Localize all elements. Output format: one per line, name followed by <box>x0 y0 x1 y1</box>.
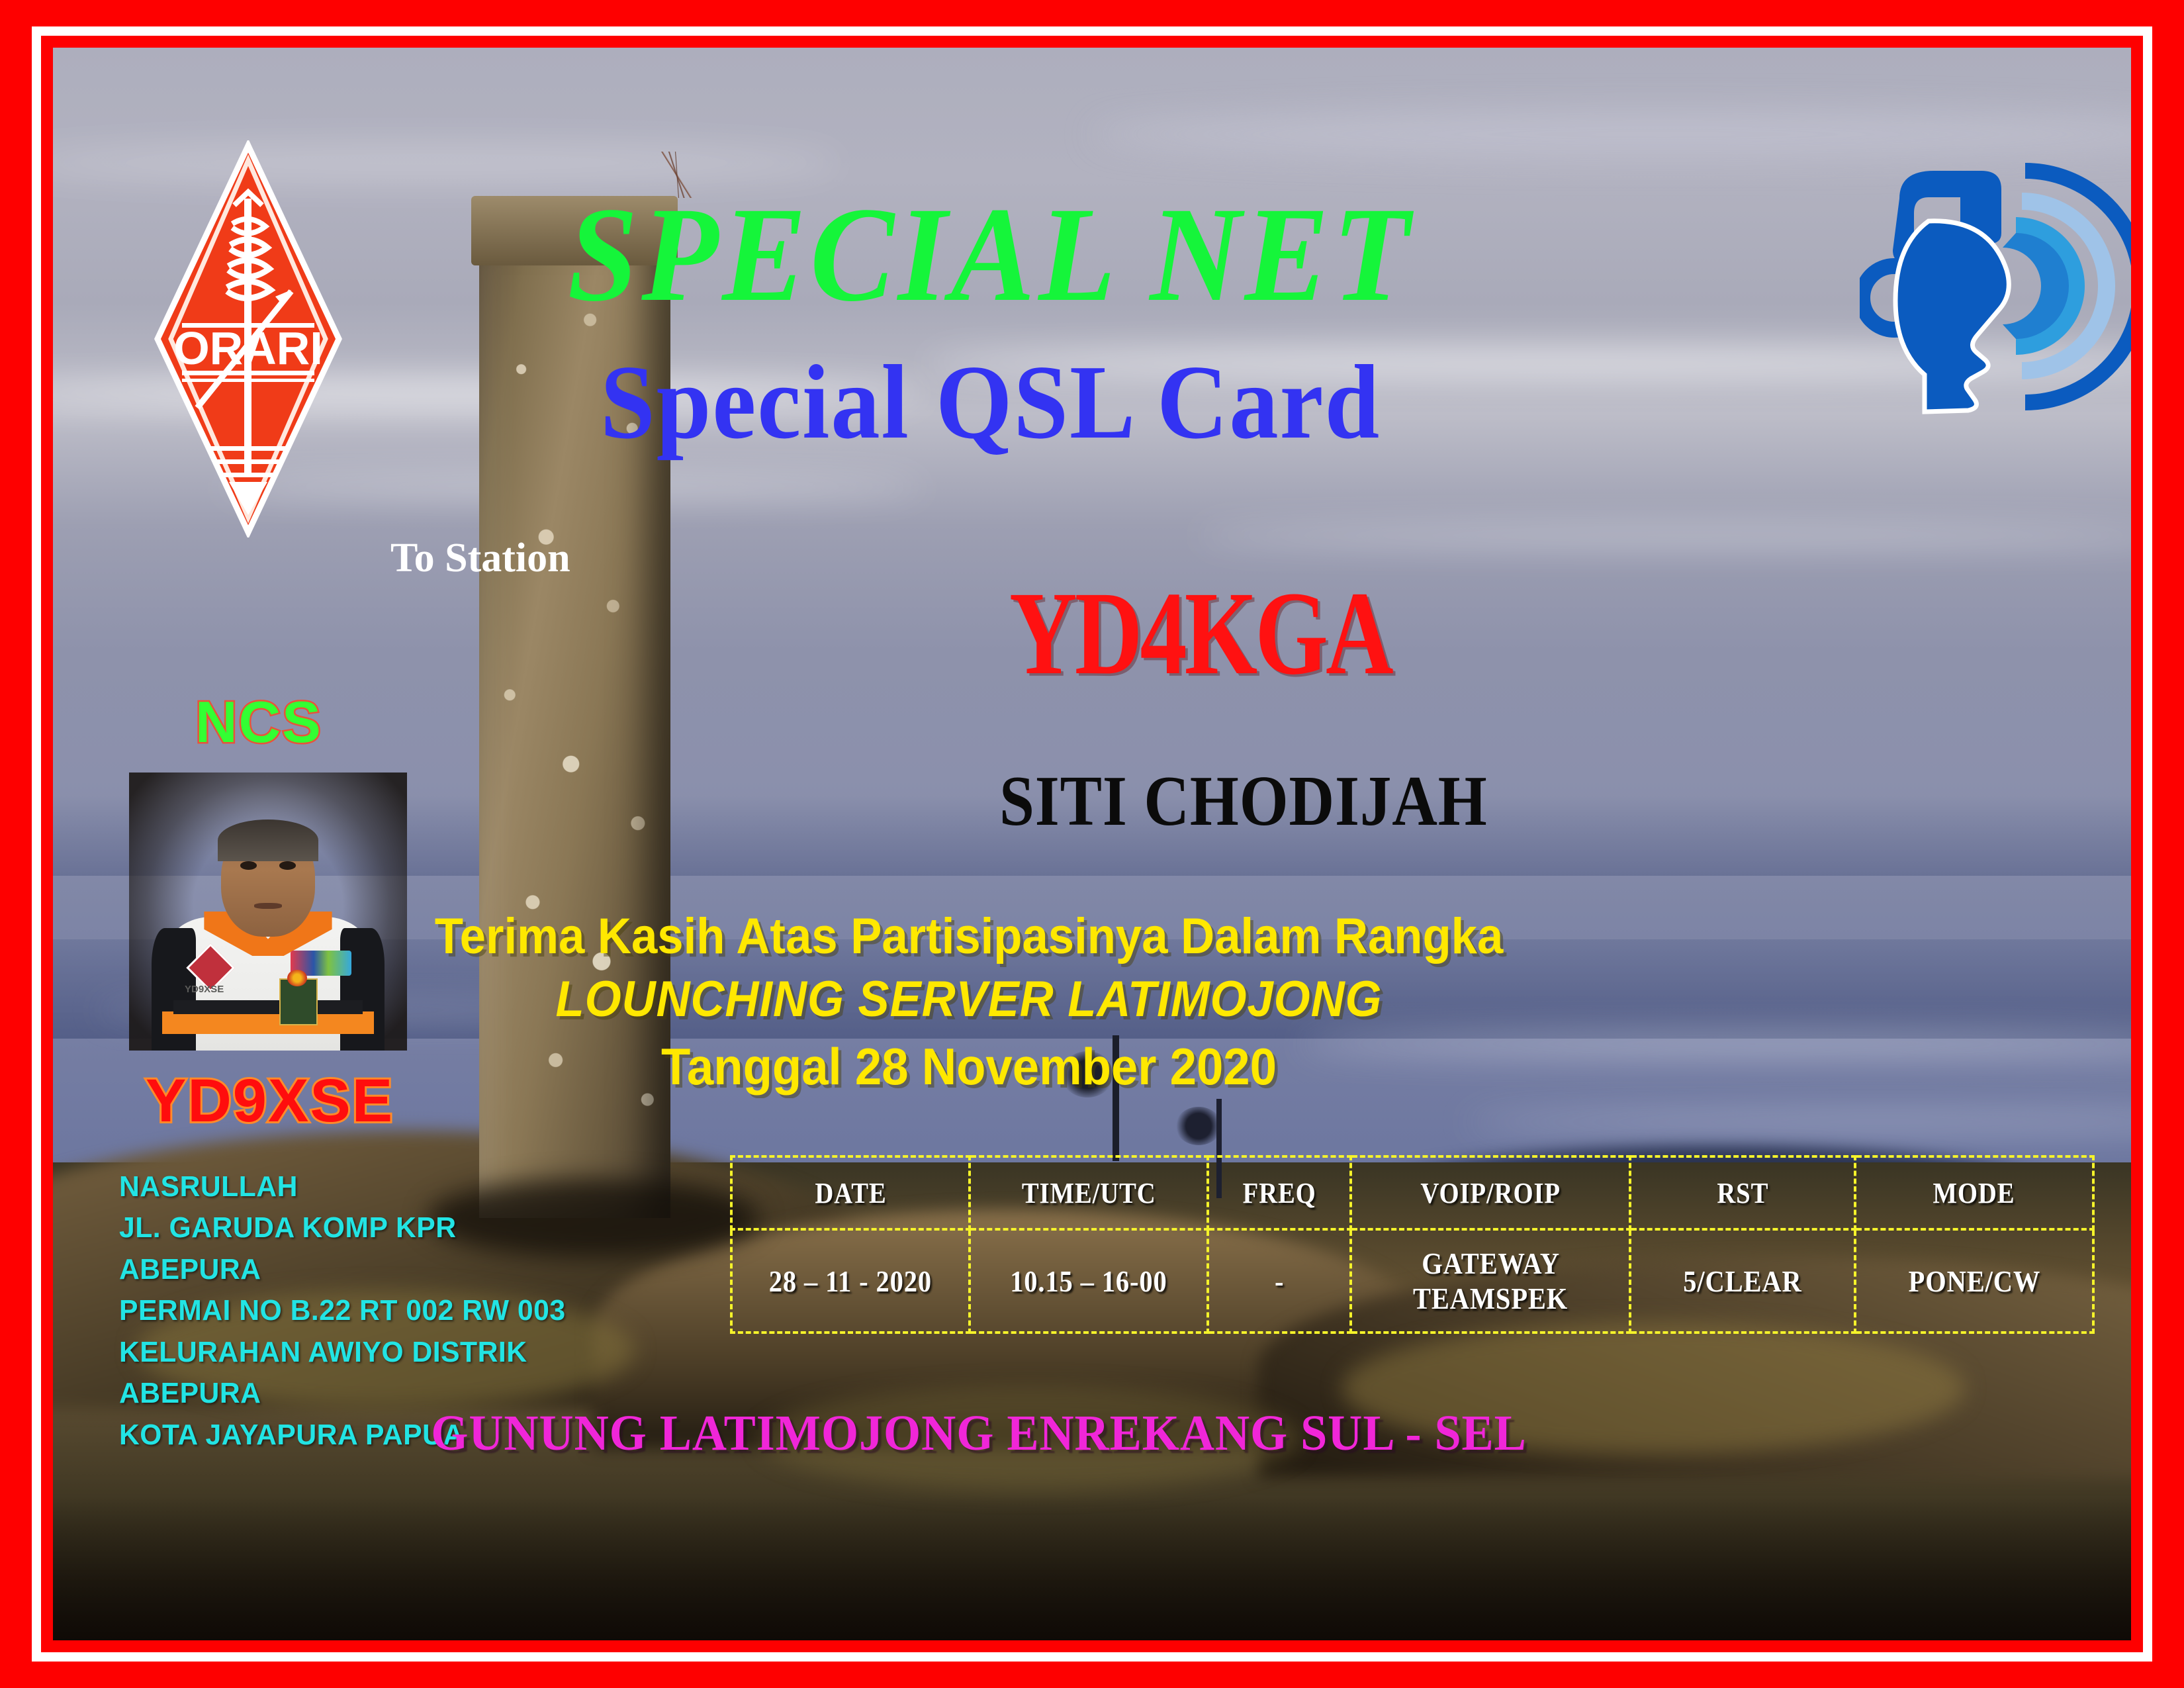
tree-silhouette <box>1175 1107 1222 1145</box>
location-label: GUNUNG LATIMOJONG ENREKANG SUL - SEL <box>105 1408 2079 1458</box>
hair <box>218 820 318 861</box>
address-line: PERMAI NO B.22 RT 002 RW 003 <box>119 1290 566 1331</box>
column-header-rst: RST <box>1630 1156 1855 1229</box>
page-subtitle: Special QSL Card <box>126 349 2058 455</box>
column-header-freq: FREQ <box>1208 1156 1351 1229</box>
to-station-callsign: YD4KGA <box>1009 574 1391 694</box>
cell-rst: 5/CLEAR <box>1630 1229 1855 1333</box>
footer-web-address: Address : amatir.latimojong.com <box>1320 1636 1953 1640</box>
column-header-date: DATE <box>731 1156 970 1229</box>
cell-time: 10.15 – 16-00 <box>970 1229 1208 1333</box>
mouth <box>254 903 282 908</box>
qso-log-table: DATE TIME/UTC FREQ VOIP/ROIP RST MODE 28… <box>730 1155 2095 1334</box>
footer-motto: "AMATIR RADIO ADALAH PROGRESIVE" <box>132 1640 1036 1640</box>
address-line: NASRULLAH <box>119 1166 566 1207</box>
foreground-shadow <box>53 1497 2131 1640</box>
eye-left <box>240 861 257 870</box>
to-station-label: To Station <box>390 538 570 579</box>
event-date-line: Tanggal 28 November 2020 <box>126 1041 2058 1092</box>
page-title: SPECIAL NET <box>126 187 2058 322</box>
column-header-mode: MODE <box>1855 1156 2093 1229</box>
table-row: 28 – 11 - 2020 10.15 – 16-00 - GATEWAY T… <box>731 1229 2093 1333</box>
address-line: KELURAHAN AWIYO DISTRIK <box>119 1332 566 1373</box>
cell-date: 28 – 11 - 2020 <box>731 1229 970 1333</box>
card-background-photo: ORARI YD9XSE <box>53 48 2131 1640</box>
column-header-voip: VOIP/ROIP <box>1351 1156 1630 1229</box>
column-header-time: TIME/UTC <box>970 1156 1208 1229</box>
cell-freq: - <box>1208 1229 1351 1333</box>
to-station-operator-name: SITI CHODIJAH <box>999 766 1488 837</box>
cell-voip: GATEWAY TEAMSPEK <box>1351 1229 1630 1333</box>
event-name-line: LOUNCHING SERVER LATIMOJONG <box>126 974 2058 1025</box>
cell-mode: PONE/CW <box>1855 1229 2093 1333</box>
address-line: ABEPURA <box>119 1249 566 1290</box>
event-thanks-line: Terima Kasih Atas Partisipasinya Dalam R… <box>126 912 2058 962</box>
table-header-row: DATE TIME/UTC FREQ VOIP/ROIP RST MODE <box>731 1156 2093 1229</box>
cloud-streak <box>1196 526 2131 545</box>
qsl-card: ORARI YD9XSE <box>0 0 2184 1688</box>
address-line: JL. GARUDA KOMP KPR <box>119 1207 566 1248</box>
ncs-label: NCS <box>195 693 322 751</box>
eye-right <box>279 861 296 870</box>
